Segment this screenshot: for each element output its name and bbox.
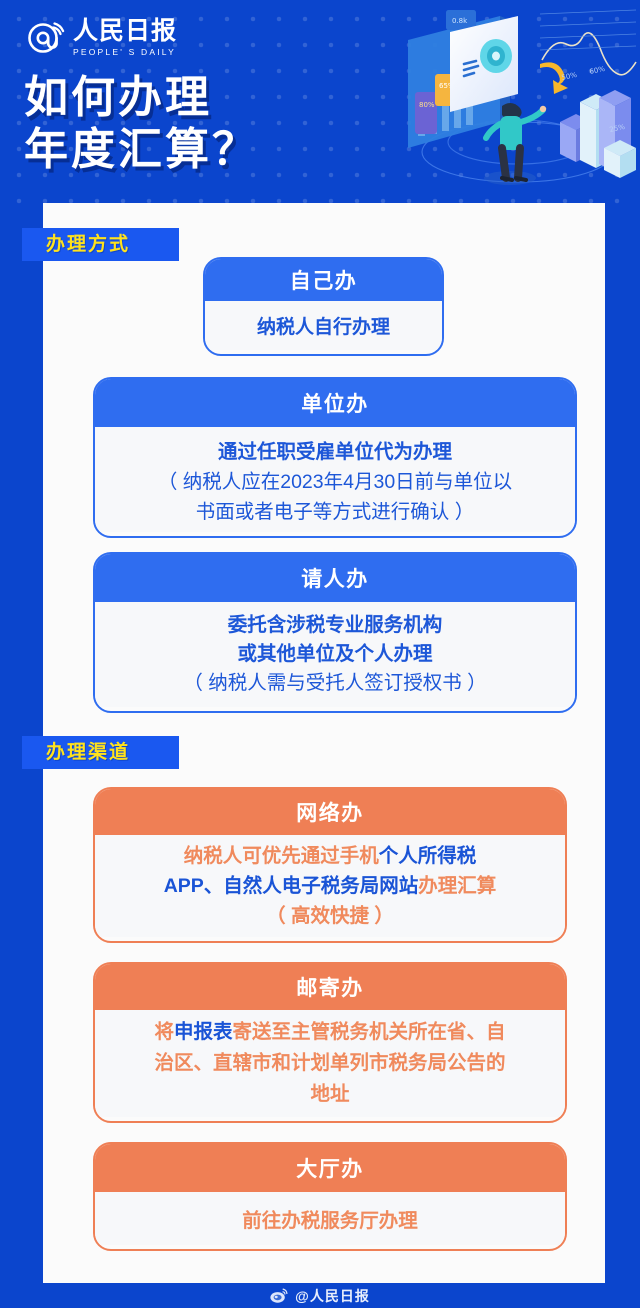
card-text-plain: 寄送至主管税务机关所在省、自: [233, 1021, 506, 1043]
card-line: 纳税人自行办理: [257, 312, 390, 339]
page-title: 如何办理 年度汇算？: [24, 72, 259, 176]
card-line: 将申报表寄送至主管税务机关所在省、自: [154, 1017, 505, 1048]
card-text-highlight: 个人所得税: [379, 845, 477, 867]
card-line: 通过任职受雇单位代为办理: [218, 437, 452, 467]
card-self-service[interactable]: 自己办 纳税人自行办理: [203, 257, 444, 356]
card-line: APP、自然人电子税务局网站办理汇算: [164, 871, 497, 901]
card-line: 纳税人可优先通过手机个人所得税: [184, 841, 477, 871]
card-title: 自己办: [205, 259, 442, 301]
card-text-plain: 办理汇算: [418, 875, 496, 897]
footer-handle: @人民日报: [295, 1286, 370, 1306]
card-line: 委托含涉税专业服务机构: [228, 611, 443, 640]
section-badge-label: 办理方式: [46, 228, 130, 261]
card-text-highlight: APP、自然人电子税务局网站: [164, 875, 419, 897]
card-body: 前往办税服务厅办理: [95, 1192, 565, 1245]
card-text-plain: 将: [154, 1021, 174, 1043]
card-line: （ 纳税人应在2023年4月30日前与单位以: [158, 467, 512, 497]
card-text-plain: （ 高效快捷 ）: [266, 905, 394, 927]
card-text-plain: 治区、直辖市和计划单列市税务局公告的: [154, 1052, 505, 1074]
card-text-highlight: 申报表: [174, 1021, 233, 1043]
svg-text:80%: 80%: [419, 101, 435, 109]
card-title: 网络办: [95, 789, 565, 835]
brand-name-cn: 人民日报: [73, 18, 177, 45]
card-mail-channel[interactable]: 邮寄办 将申报表寄送至主管税务机关所在省、自 治区、直辖市和计划单列市税务局公告…: [93, 962, 567, 1123]
at-logo-icon: [26, 18, 66, 58]
card-line: 或其他单位及个人办理: [237, 640, 432, 669]
card-body: 纳税人可优先通过手机个人所得税 APP、自然人电子税务局网站办理汇算 （ 高效快…: [95, 835, 565, 937]
card-hall-channel[interactable]: 大厅办 前往办税服务厅办理: [93, 1142, 567, 1251]
data-analytics-illustration: 0.8k 80% 65%: [390, 2, 640, 200]
card-line: （ 高效快捷 ）: [266, 901, 394, 931]
card-body: 将申报表寄送至主管税务机关所在省、自 治区、直辖市和计划单列市税务局公告的 地址: [95, 1010, 565, 1117]
card-line: （ 纳税人需与受托人签订授权书 ）: [183, 669, 486, 698]
card-employer-service[interactable]: 单位办 通过任职受雇单位代为办理 （ 纳税人应在2023年4月30日前与单位以 …: [93, 377, 577, 538]
headline-line-1: 如何办理: [24, 72, 259, 124]
weibo-icon: [270, 1288, 288, 1303]
footer: @人民日报: [0, 1283, 640, 1308]
header: 人民日报 PEOPLE' S DAILY 如何办理 年度汇算？: [0, 0, 640, 205]
card-line: 书面或者电子等方式进行确认 ）: [196, 497, 474, 527]
brand-name-en: PEOPLE' S DAILY: [73, 47, 177, 58]
brand-logo: 人民日报 PEOPLE' S DAILY: [26, 18, 177, 58]
card-text-plain: 纳税人可优先通过手机: [184, 845, 379, 867]
svg-text:60%: 60%: [589, 65, 606, 76]
card-title: 大厅办: [95, 1144, 565, 1192]
headline-line-2: 年度汇算？: [24, 124, 259, 176]
card-body: 纳税人自行办理: [205, 301, 442, 350]
card-body: 委托含涉税专业服务机构 或其他单位及个人办理 （ 纳税人需与受托人签订授权书 ）: [95, 602, 575, 707]
card-body: 通过任职受雇单位代为办理 （ 纳税人应在2023年4月30日前与单位以 书面或者…: [95, 427, 575, 532]
card-title: 邮寄办: [95, 964, 565, 1010]
card-online-channel[interactable]: 网络办 纳税人可优先通过手机个人所得税 APP、自然人电子税务局网站办理汇算 （…: [93, 787, 567, 943]
section-badge-label: 办理渠道: [46, 736, 130, 769]
card-title: 单位办: [95, 379, 575, 427]
card-text-plain: 地址: [310, 1083, 349, 1105]
section-badge-methods: 办理方式: [22, 228, 179, 261]
svg-text:0.8k: 0.8k: [452, 17, 468, 25]
card-line: 地址: [310, 1079, 349, 1110]
card-agent-service[interactable]: 请人办 委托含涉税专业服务机构 或其他单位及个人办理 （ 纳税人需与受托人签订授…: [93, 552, 577, 713]
card-line: 治区、直辖市和计划单列市税务局公告的: [154, 1048, 505, 1079]
card-line: 前往办税服务厅办理: [242, 1204, 418, 1233]
infographic-page: 人民日报 PEOPLE' S DAILY 如何办理 年度汇算？: [0, 0, 640, 1308]
section-badge-channels: 办理渠道: [22, 736, 179, 769]
card-title: 请人办: [95, 554, 575, 602]
